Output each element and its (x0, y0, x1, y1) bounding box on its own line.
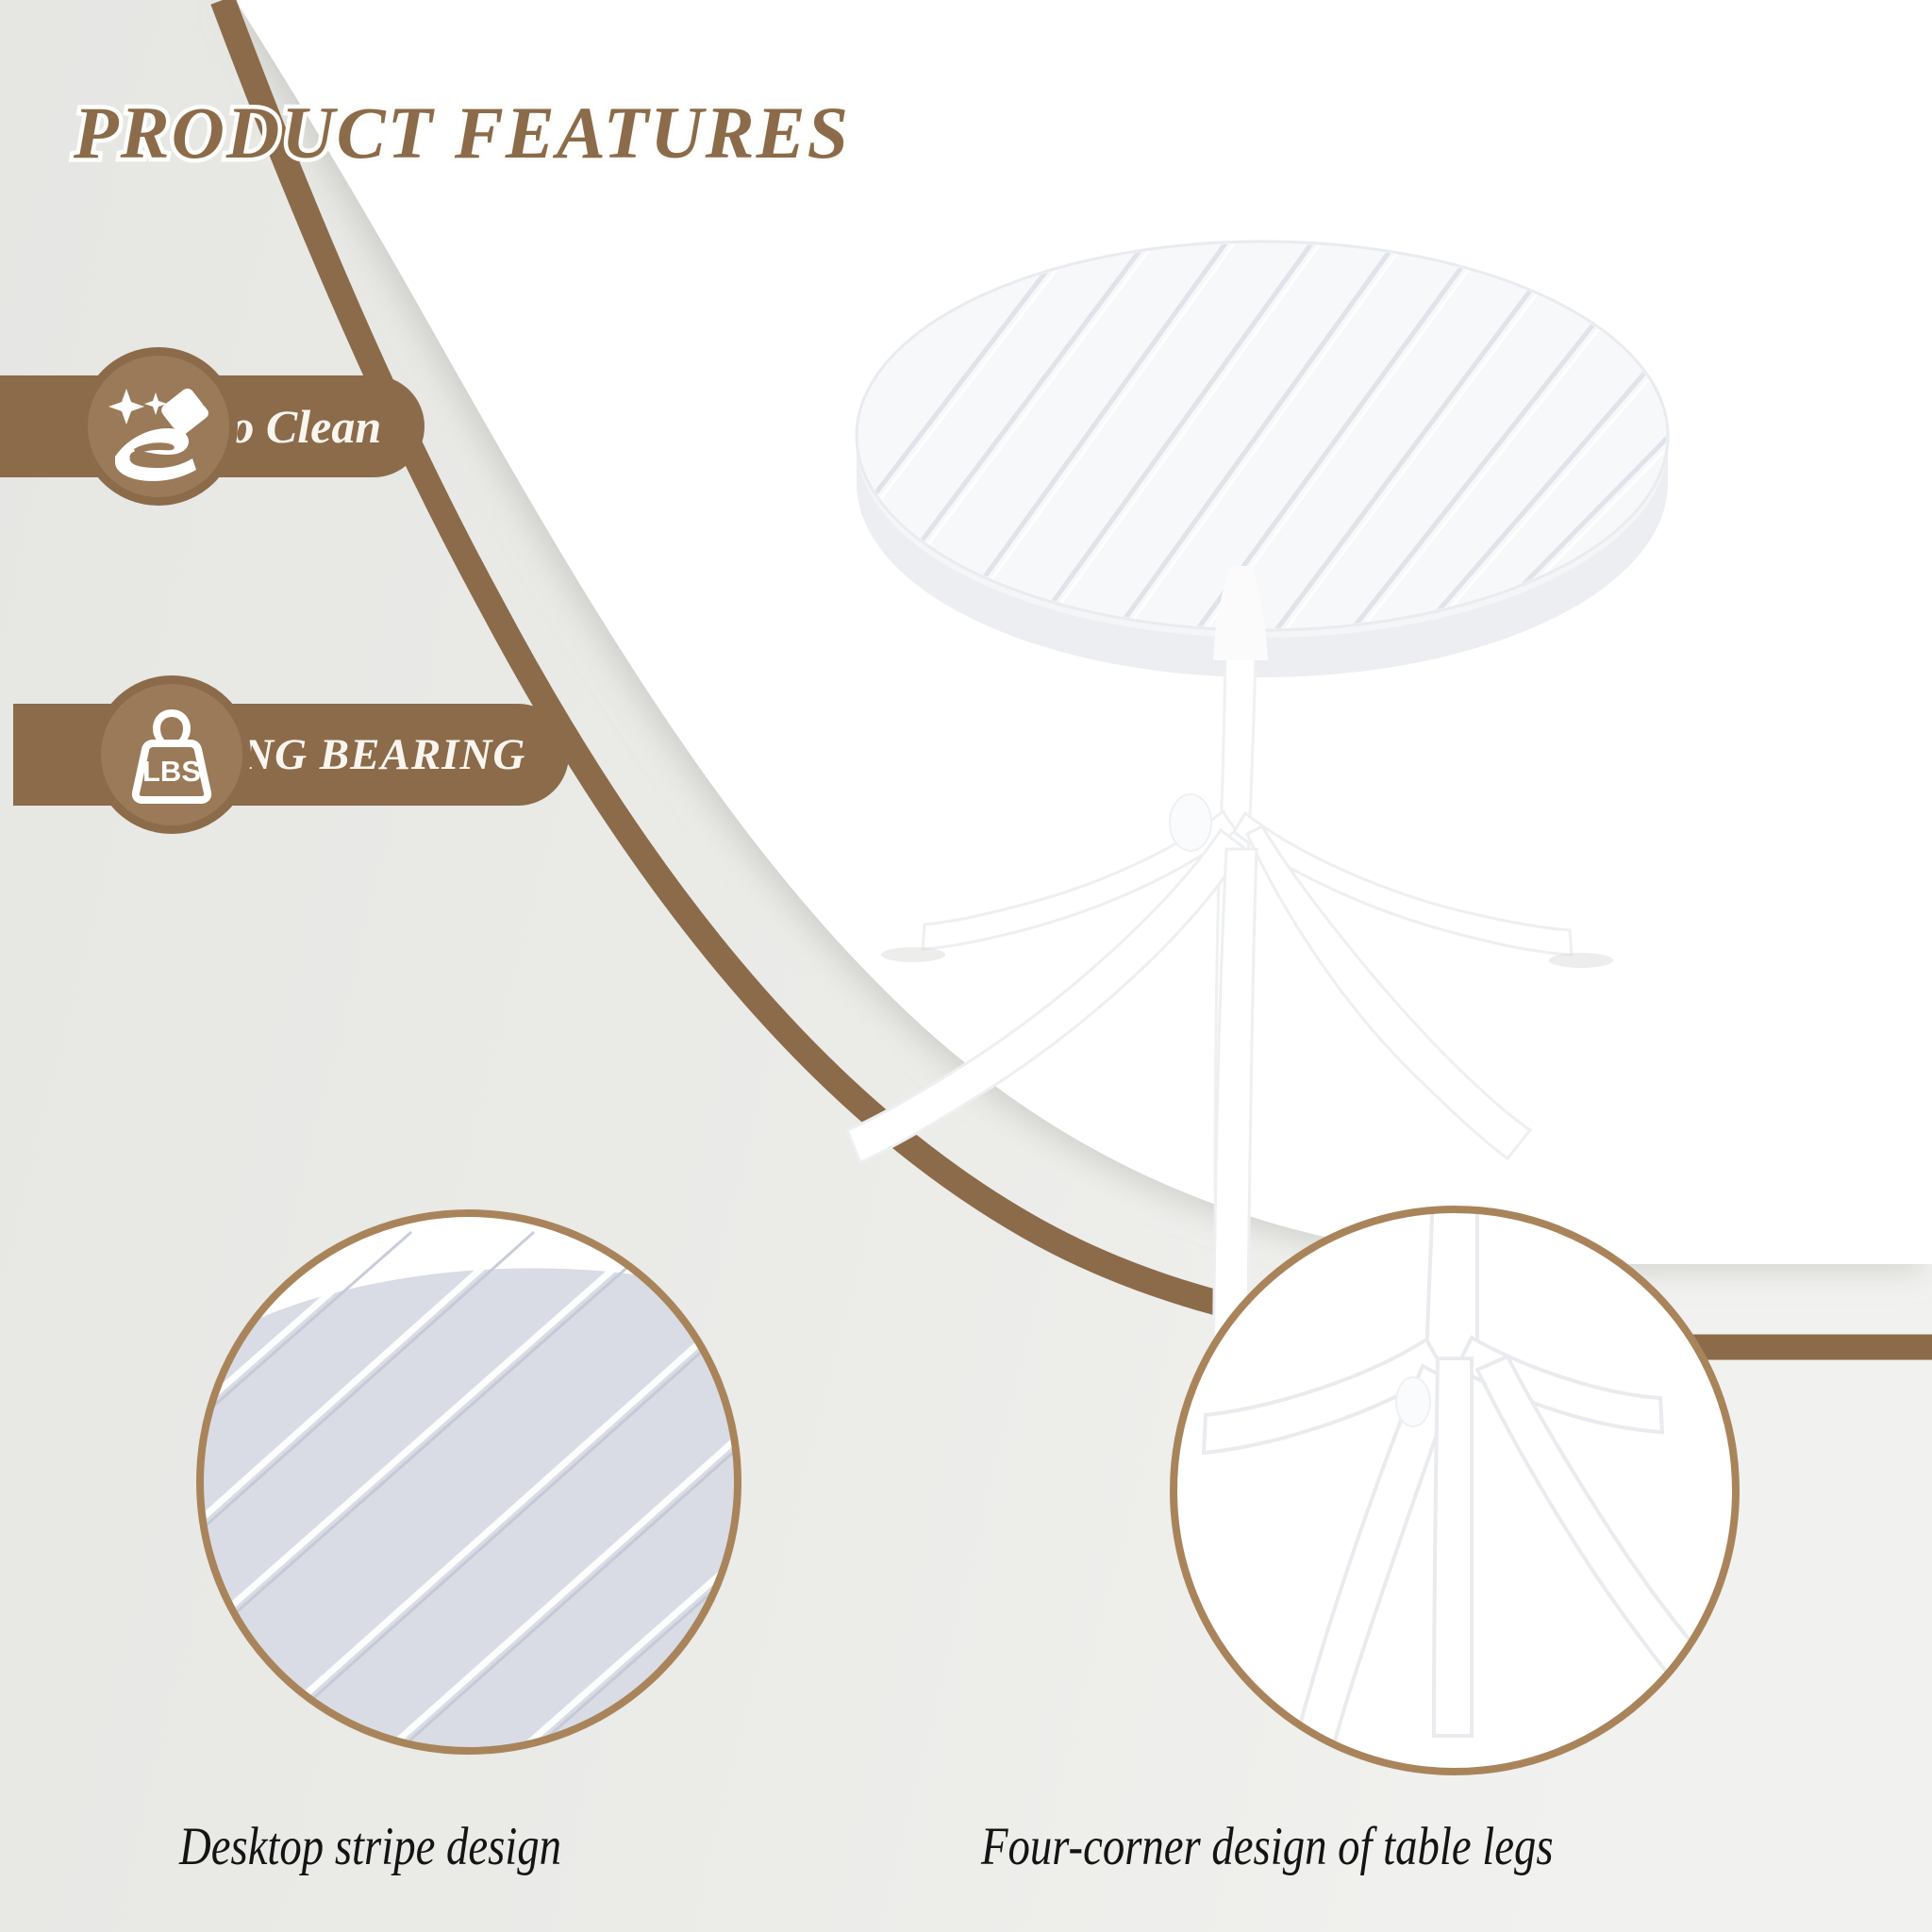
feature-badge-strong-bearing[interactable]: STRONG BEARING LBS (92, 704, 569, 806)
feature-badge-easy-to-clean[interactable]: Easy to Clean (79, 375, 425, 477)
feature-icon-circle-easy-to-clean (79, 347, 238, 506)
background-decoration (0, 0, 1932, 1932)
detail-caption-stripe: Desktop stripe design (179, 1816, 561, 1877)
feature-icon-circle-strong-bearing: LBS (92, 675, 251, 834)
sparkle-hand-wipe-icon (102, 370, 215, 483)
page-title: PRODUCT FEATURES (74, 91, 850, 175)
weight-lbs-icon: LBS (119, 700, 225, 809)
detail-caption-legs: Four-corner design of table legs (981, 1816, 1554, 1877)
weight-icon-text: LBS (142, 755, 201, 788)
infographic-canvas: PRODUCT FEATURES Easy to Clean (0, 0, 1932, 1932)
